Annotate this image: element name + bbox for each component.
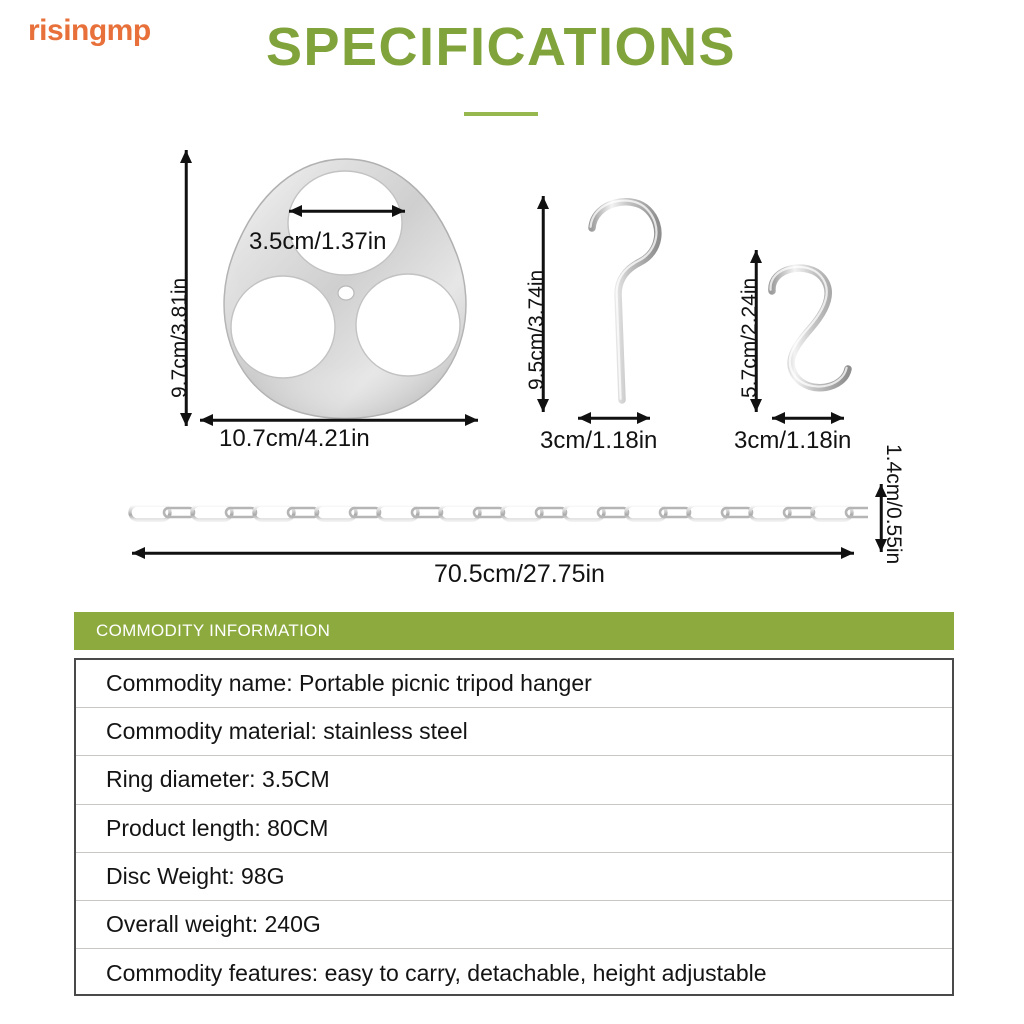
commodity-information-header: COMMODITY INFORMATION <box>74 612 954 650</box>
j-hook-width-label: 3cm/1.18in <box>540 427 657 455</box>
chain-illustration <box>128 489 868 543</box>
s-hook-width-arrow <box>772 410 844 426</box>
ring-diameter-label: 3.5cm/1.37in <box>249 228 386 256</box>
s-hook-highlight <box>771 267 847 387</box>
tripod-disc-illustration <box>195 145 495 445</box>
table-row: Ring diameter: 3.5CM <box>76 756 952 804</box>
j-hook-wire <box>592 202 658 400</box>
title-underline <box>464 112 538 116</box>
page-title: SPECIFICATIONS <box>266 16 736 78</box>
commodity-information-box: Commodity name: Portable picnic tripod h… <box>74 658 954 996</box>
table-row: Commodity material: stainless steel <box>76 708 952 756</box>
table-row: Product length: 80CM <box>76 805 952 853</box>
specification-page: risingmp SPECIFICATIONS <box>0 0 1024 1024</box>
s-hook-illustration <box>752 255 872 415</box>
chain-length-arrow <box>132 545 854 561</box>
chain-length-label: 70.5cm/27.75in <box>434 560 605 589</box>
j-hook-width-arrow <box>578 410 650 426</box>
table-row: Overall weight: 240G <box>76 901 952 949</box>
disc-hole-right <box>356 274 460 376</box>
disc-width-label: 10.7cm/4.21in <box>219 425 370 453</box>
disc-height-label: 9.7cm/3.81in <box>168 278 192 398</box>
disc-hole-left <box>231 276 335 378</box>
table-row: Disc Weight: 98G <box>76 853 952 901</box>
commodity-information-list: Commodity name: Portable picnic tripod h… <box>76 660 952 997</box>
table-row: Commodity name: Portable picnic tripod h… <box>76 660 952 708</box>
s-hook-height-label: 5.7cm/2.24in <box>738 278 762 398</box>
disc-center-hole <box>338 286 354 300</box>
ring-diameter-arrow <box>289 204 405 218</box>
brand-logo: risingmp <box>28 14 151 48</box>
chain-links <box>130 505 868 520</box>
j-hook-illustration <box>570 190 700 420</box>
disc-hole-top <box>288 171 402 275</box>
s-hook-width-label: 3cm/1.18in <box>734 427 851 455</box>
table-row: Commodity features: easy to carry, detac… <box>76 949 952 997</box>
chain-link-width-label: 1.4cm/0.55in <box>881 444 905 564</box>
j-hook-height-label: 9.5cm/3.74in <box>525 270 549 390</box>
